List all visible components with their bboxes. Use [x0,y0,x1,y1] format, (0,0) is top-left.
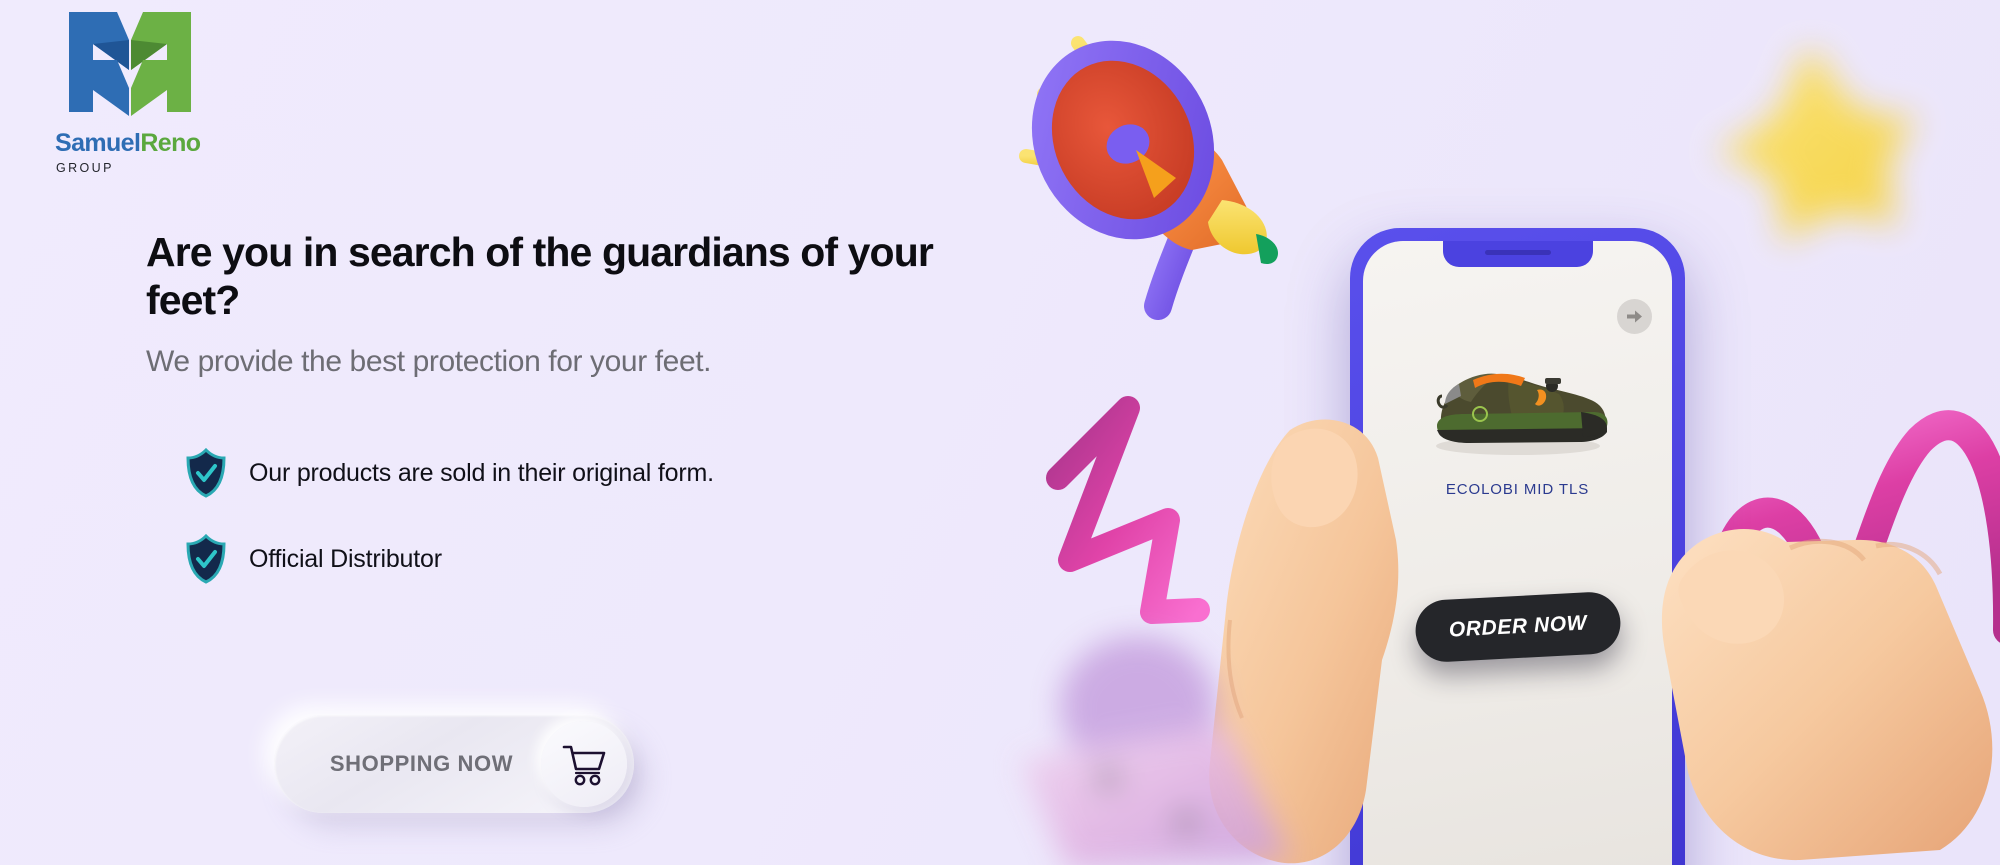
brand-logo[interactable]: SamuelReno GROUP [45,8,230,175]
list-item: Official Distributor [185,516,1005,602]
brand-name-part1: Samuel [55,129,140,157]
page-subtitle: We provide the best protection for your … [146,345,1026,379]
list-item-label: Our products are sold in their original … [249,459,714,488]
feature-list: Our products are sold in their original … [185,430,1005,602]
blurred-star-icon [1650,40,1980,350]
list-item: Our products are sold in their original … [185,430,1005,516]
shield-check-icon [185,534,227,584]
hero-banner: SamuelReno GROUP Are you in search of th… [0,0,2000,865]
hand-right-3d-icon [1640,420,2000,865]
cart-button-circle[interactable] [541,721,627,807]
brand-wordmark: SamuelReno [55,129,230,158]
brand-name-part2: Reno [140,129,200,157]
phone-speaker [1485,250,1551,255]
page-title: Are you in search of the guardians of yo… [146,228,1026,325]
shopping-cart-icon [561,742,607,786]
shopping-now-button-label: SHOPPING NOW [274,751,541,777]
hero-left-content: SamuelReno GROUP Are you in search of th… [0,0,1040,865]
brand-subtitle: GROUP [56,161,230,175]
samuelreno-ribbon-logo-icon [55,8,205,133]
list-item-label: Official Distributor [249,545,442,574]
shield-check-icon [185,448,227,498]
hero-illustration: ECOLOBI MID TLS ORDER NOW [1020,0,2000,865]
phone-notch [1443,241,1593,267]
shopping-now-button[interactable]: SHOPPING NOW [274,715,634,813]
